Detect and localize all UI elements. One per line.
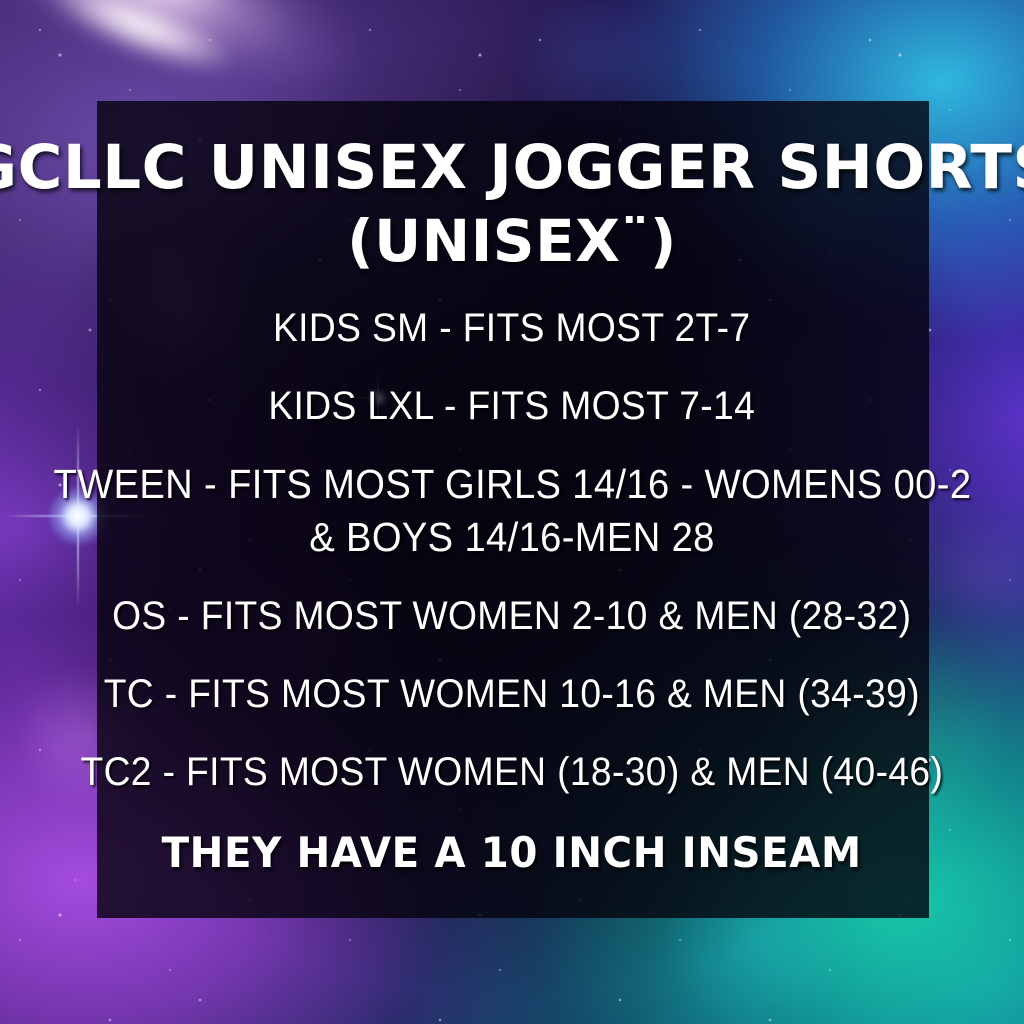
page-title-line-2: (UNISEX¨) <box>347 211 677 271</box>
size-line-kids-lxl: KIDS LXL - FITS MOST 7-14 <box>269 384 756 428</box>
size-line-tween: TWEEN - FITS MOST GIRLS 14/16 - WOMENS 0… <box>53 462 971 507</box>
page-title-line-1: GCLLC UNISEX JOGGER SHORTS <box>0 136 1024 199</box>
chart-content: GCLLC UNISEX JOGGER SHORTS (UNISEX¨) KID… <box>0 0 1024 1024</box>
size-line-tc: TC - FITS MOST WOMEN 10-16 & MEN (34-39) <box>104 672 920 716</box>
size-line-tween-continued: & BOYS 14/16-MEN 28 <box>309 515 715 560</box>
size-chart-graphic: GCLLC UNISEX JOGGER SHORTS (UNISEX¨) KID… <box>0 0 1024 1024</box>
inseam-note: THEY HAVE A 10 INCH INSEAM <box>162 828 862 877</box>
size-line-tc2: TC2 - FITS MOST WOMEN (18-30) & MEN (40-… <box>81 750 944 794</box>
size-line-os: OS - FITS MOST WOMEN 2-10 & MEN (28-32) <box>112 594 911 638</box>
size-line-kids-sm: KIDS SM - FITS MOST 2T-7 <box>273 306 750 350</box>
